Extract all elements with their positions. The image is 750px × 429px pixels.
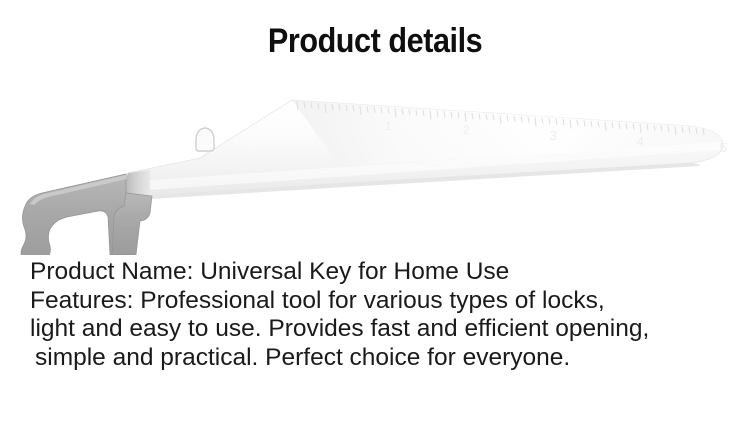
page-title-container: Product details bbox=[0, 22, 750, 60]
universal-key-tool-illustration: 1 2 3 4 5 bbox=[0, 80, 750, 255]
ruler-label-1: 1 bbox=[384, 119, 392, 133]
svg-text:3: 3 bbox=[549, 128, 557, 143]
ruler-label-3: 3 bbox=[549, 128, 557, 143]
svg-text:1: 1 bbox=[384, 119, 392, 133]
ruler-label-4: 4 bbox=[636, 134, 644, 149]
description-line-product-name: Product Name: Universal Key for Home Use bbox=[0, 258, 750, 287]
description-line-closing: simple and practical. Perfect choice for… bbox=[0, 344, 750, 373]
svg-text:4: 4 bbox=[636, 134, 644, 149]
svg-text:5: 5 bbox=[719, 140, 727, 155]
svg-text:2: 2 bbox=[462, 123, 470, 137]
page-title: Product details bbox=[268, 22, 482, 60]
description-line-usage: light and easy to use. Provides fast and… bbox=[0, 315, 750, 344]
ruler-label-2: 2 bbox=[462, 123, 470, 137]
description-line-features: Features: Professional tool for various … bbox=[0, 287, 750, 316]
ruler-label-5: 5 bbox=[719, 140, 727, 155]
dome-hole bbox=[196, 128, 214, 151]
product-image: 1 2 3 4 5 bbox=[0, 80, 750, 255]
product-description: Product Name: Universal Key for Home Use… bbox=[0, 258, 750, 372]
product-details-page: Product details bbox=[0, 0, 750, 429]
